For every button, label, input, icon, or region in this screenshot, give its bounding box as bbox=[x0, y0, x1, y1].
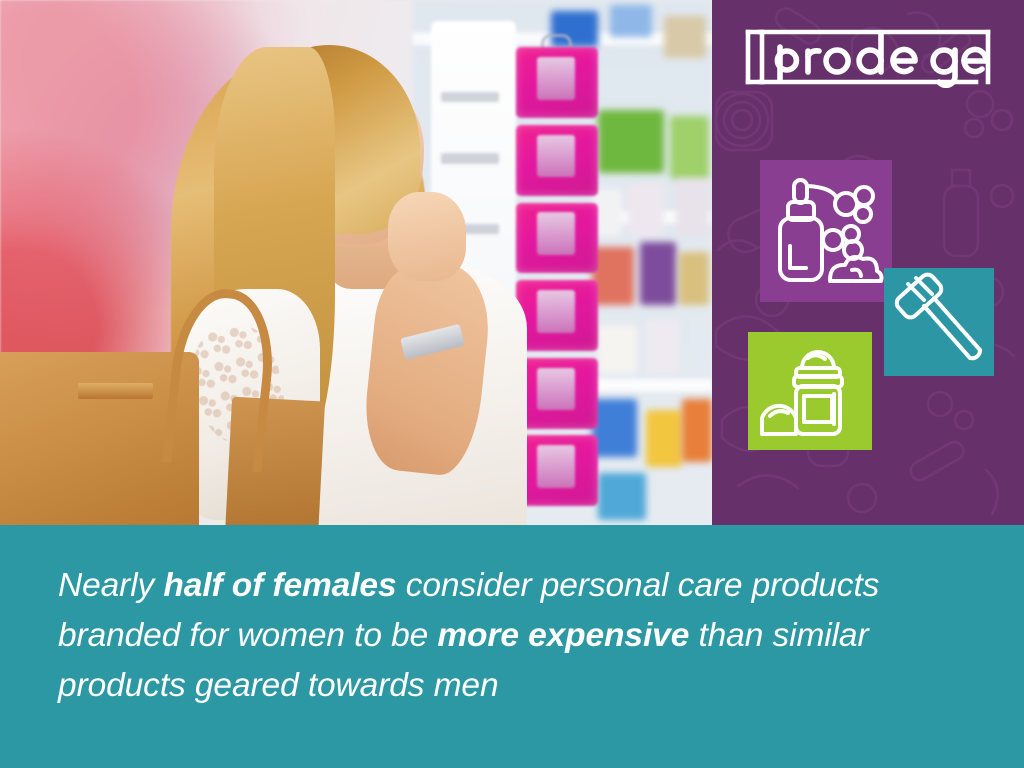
woman-figure bbox=[0, 0, 712, 525]
tile-soap-dispenser[interactable] bbox=[760, 160, 892, 302]
deodorant-icon bbox=[748, 332, 872, 450]
handbag-buckle bbox=[78, 383, 153, 399]
caption-seg-1: Nearly bbox=[58, 567, 163, 604]
caption-seg-4-bold: more expensive bbox=[437, 617, 689, 654]
tile-deodorant[interactable] bbox=[748, 332, 872, 450]
tile-razor[interactable] bbox=[884, 268, 994, 376]
caption-text: Nearly half of females consider personal… bbox=[58, 561, 978, 711]
soap-dispenser-icon bbox=[760, 160, 892, 302]
caption-band: Nearly half of females consider personal… bbox=[0, 525, 1024, 768]
prodege-logo[interactable] bbox=[742, 26, 994, 88]
caption-seg-2-bold: half of females bbox=[163, 567, 396, 604]
hero-photo bbox=[0, 0, 712, 525]
brand-panel bbox=[712, 0, 1024, 525]
hand-on-chin bbox=[388, 192, 466, 281]
infographic-poster: Nearly half of females consider personal… bbox=[0, 0, 1024, 768]
razor-icon bbox=[884, 268, 994, 376]
